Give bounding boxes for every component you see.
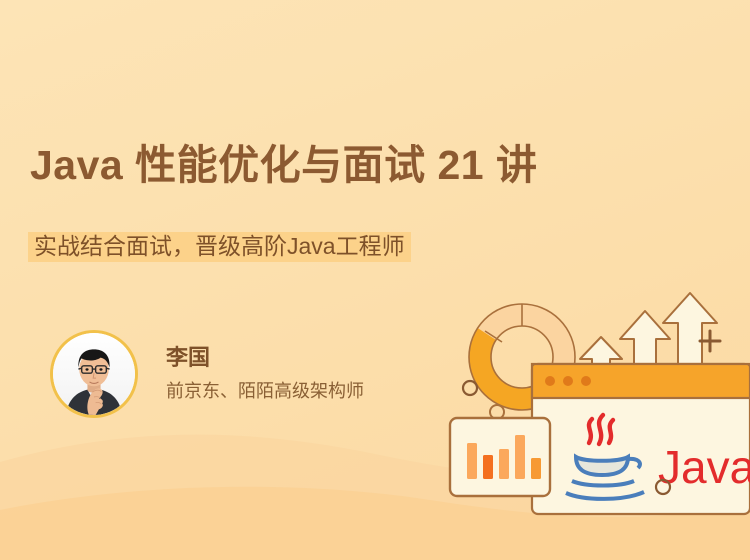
course-banner: Java 性能优化与面试 21 讲 实战结合面试，晋级高阶Java工程师 — [0, 0, 750, 560]
circle-left — [463, 381, 477, 395]
avatar — [50, 330, 138, 418]
subtitle-highlight: 实战结合面试，晋级高阶Java工程师 — [28, 232, 411, 262]
subtitle-text: 实战结合面试，晋级高阶Java工程师 — [34, 235, 405, 258]
author-name: 李国 — [166, 346, 364, 370]
window-dots — [545, 376, 591, 386]
bar-chart-card — [450, 405, 550, 496]
author-text: 李国 前京东、陌陌高级架构师 — [166, 346, 364, 402]
page-title: Java 性能优化与面试 21 讲 — [30, 145, 538, 186]
illustration: Java — [440, 285, 750, 525]
java-logo-text: Java — [658, 441, 750, 493]
author-role: 前京东、陌陌高级架构师 — [166, 382, 364, 402]
author-block: 李国 前京东、陌陌高级架构师 — [50, 330, 364, 418]
